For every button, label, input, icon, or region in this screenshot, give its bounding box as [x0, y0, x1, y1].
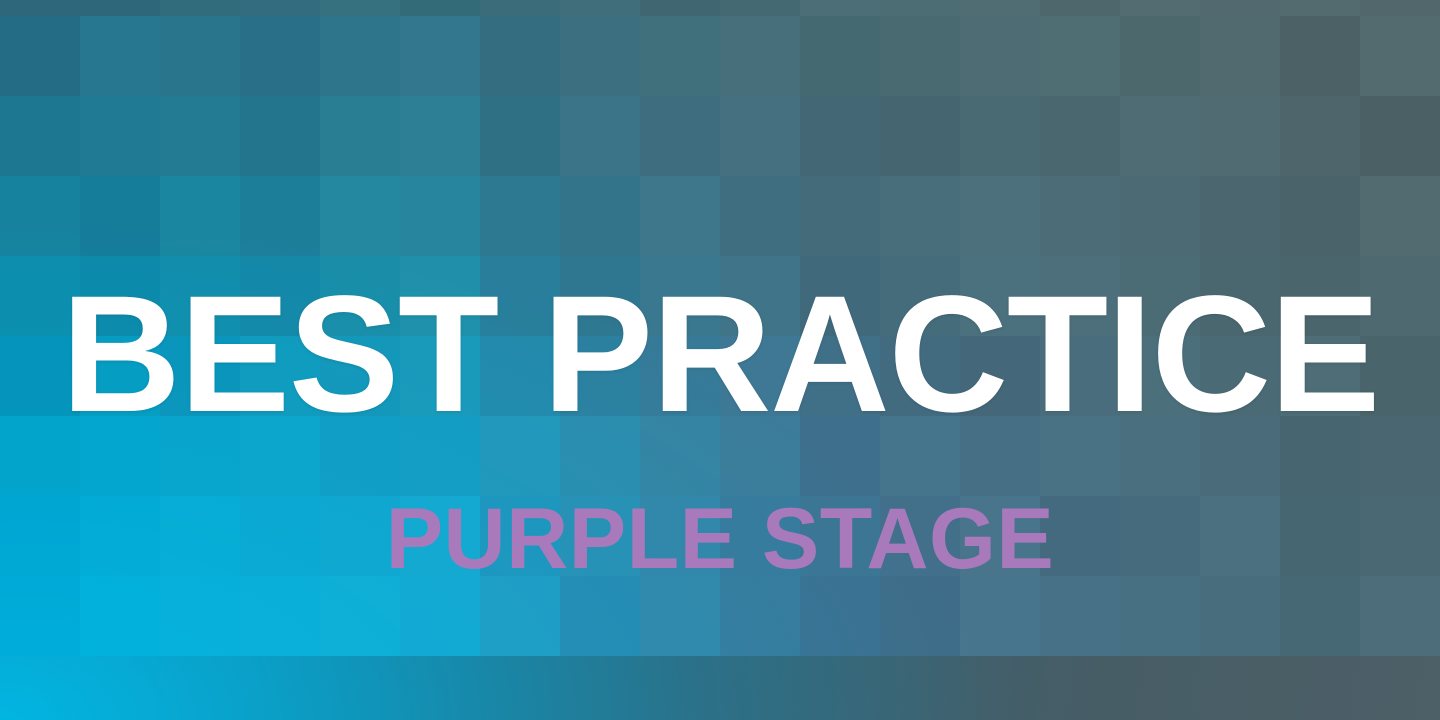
page-title: BEST PRACTICE: [61, 272, 1379, 438]
slide-canvas: BEST PRACTICE PURPLE STAGE: [0, 0, 1440, 720]
slide-content: BEST PRACTICE PURPLE STAGE: [0, 0, 1440, 720]
page-subtitle: PURPLE STAGE: [386, 496, 1055, 582]
